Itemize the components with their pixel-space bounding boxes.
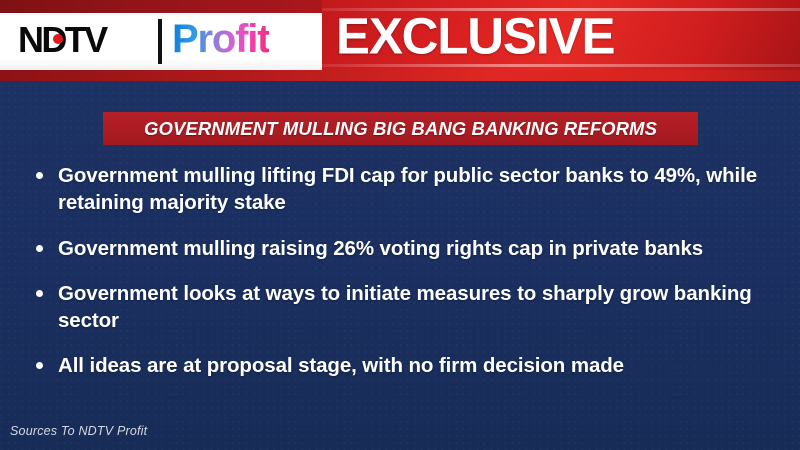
list-item: Government mulling lifting FDI cap for p… [28, 162, 780, 217]
ndtv-red-dot-icon [53, 34, 63, 44]
bullet-text: Government looks at ways to initiate mea… [58, 280, 780, 335]
headline-bar: GOVERNMENT MULLING BIG BANG BANKING REFO… [103, 112, 698, 145]
broadcast-graphic-slide: NDTV Profit EXCLUSIVE GOVERNMENT MULLING… [0, 0, 800, 450]
headline-text: GOVERNMENT MULLING BIG BANG BANKING REFO… [144, 118, 657, 140]
list-item: Government looks at ways to initiate mea… [28, 280, 780, 335]
bullet-text: Government mulling raising 26% voting ri… [58, 235, 703, 262]
bullet-dot-icon [36, 172, 43, 179]
bullet-text: Government mulling lifting FDI cap for p… [58, 162, 780, 217]
list-item: All ideas are at proposal stage, with no… [28, 352, 780, 379]
header-bottom-red-strip [0, 70, 800, 81]
bullet-dot-icon [36, 362, 43, 369]
exclusive-badge: EXCLUSIVE [322, 0, 800, 71]
source-credit: Sources To NDTV Profit [10, 424, 147, 438]
bullet-dot-icon [36, 245, 43, 252]
list-item: Government mulling raising 26% voting ri… [28, 235, 780, 262]
bullet-text: All ideas are at proposal stage, with no… [58, 352, 624, 379]
header-banner: NDTV Profit EXCLUSIVE [0, 0, 800, 81]
profit-wordmark[interactable]: Profit [172, 19, 269, 59]
bullet-dot-icon [36, 290, 43, 297]
bullet-list: Government mulling lifting FDI cap for p… [28, 162, 780, 398]
logo-divider [158, 19, 162, 64]
exclusive-badge-label: EXCLUSIVE [336, 10, 614, 61]
